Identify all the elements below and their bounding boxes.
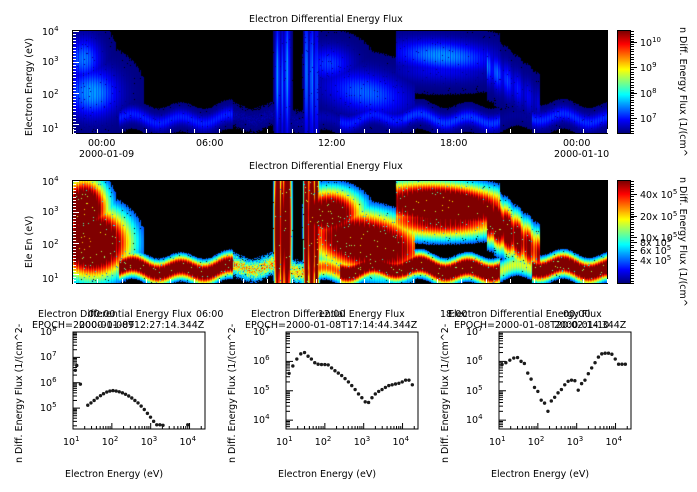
colorbar-tick-label: 40x 105 — [640, 188, 677, 201]
y-minor-tick — [73, 105, 76, 106]
colorbar-minor-tick — [631, 232, 634, 233]
y-minor-tick — [73, 215, 76, 216]
bottom-xtick-label: 104 — [180, 435, 197, 448]
colorbar-major-tick — [631, 118, 637, 119]
y-minor-tick — [73, 255, 76, 256]
y-minor-tick — [73, 37, 76, 38]
mid-spectrogram-canvas — [73, 181, 607, 283]
x-minor-tick — [292, 129, 293, 133]
plot-frame — [499, 332, 631, 429]
colorbar-major-tick — [631, 194, 637, 195]
y-minor-tick — [73, 246, 76, 247]
bottom-xtick-label: 103 — [141, 435, 158, 448]
y-minor-tick — [73, 203, 76, 204]
top-ytick-2: 102 — [42, 88, 59, 101]
top-panel: Electron Differential Energy Flux Electr… — [0, 0, 697, 162]
mid-colorbar-gradient — [618, 181, 630, 283]
colorbar-minor-tick — [631, 235, 634, 236]
x-minor-tick — [437, 279, 438, 283]
top-ytick-1: 101 — [42, 122, 59, 135]
x-minor-tick — [461, 129, 462, 133]
y-minor-tick — [73, 77, 76, 78]
data-points — [74, 364, 190, 427]
colorbar-minor-tick — [631, 283, 634, 284]
top-colorbar-label: n Diff. Energy Flux (1/(cm^ — [677, 27, 688, 157]
bottom-ytick-label: 107 — [253, 325, 270, 338]
bottom-xtick-label: 101 — [489, 435, 506, 448]
colorbar-minor-tick — [631, 247, 634, 248]
y-minor-tick — [73, 184, 76, 185]
x-minor-tick — [364, 129, 365, 133]
y-minor-tick — [73, 127, 76, 128]
y-minor-tick — [73, 74, 76, 75]
colorbar-minor-tick — [631, 224, 634, 225]
y-minor-tick — [73, 31, 79, 32]
x-minor-tick — [583, 129, 584, 133]
colorbar-minor-tick — [631, 77, 634, 78]
y-minor-tick — [73, 102, 76, 103]
colorbar-major-tick — [631, 260, 637, 261]
y-minor-tick — [73, 212, 79, 213]
colorbar-tick-label: 10x 105 — [640, 231, 677, 244]
colorbar-minor-tick — [631, 125, 634, 126]
y-minor-tick — [73, 234, 76, 235]
mid-colorbar-label-wrap: n Diff. Energy Flux (1/(cm^ — [688, 177, 697, 188]
colorbar-minor-tick — [631, 201, 634, 202]
colorbar-minor-tick — [631, 278, 634, 279]
colorbar-minor-tick — [631, 115, 634, 116]
y-minor-tick — [73, 277, 76, 278]
colorbar-minor-tick — [631, 79, 634, 80]
y-minor-tick — [73, 84, 76, 85]
x-minor-tick — [340, 129, 341, 133]
colorbar-major-tick — [631, 237, 637, 238]
mid-ytick-1: 101 — [42, 272, 59, 285]
x-minor-tick — [267, 129, 268, 133]
colorbar-tick-label: 20x 105 — [640, 210, 677, 223]
colorbar-minor-tick — [631, 227, 634, 228]
colorbar-minor-tick — [631, 189, 634, 190]
bottom-xtick-label: 104 — [606, 435, 623, 448]
colorbar-major-tick — [631, 242, 637, 243]
bottom-ytick-label: 106 — [253, 354, 270, 367]
top-panel-title: Electron Differential Energy Flux — [249, 14, 403, 25]
x-minor-tick — [146, 279, 147, 283]
top-spectrogram-plot[interactable] — [72, 30, 608, 134]
bottom-ytick-label: 104 — [253, 413, 270, 426]
x-minor-tick — [194, 279, 195, 283]
mid-panel-ylabel: Ele En (eV) — [24, 216, 35, 268]
top-ytick-3: 103 — [42, 55, 59, 68]
colorbar-minor-tick — [631, 85, 634, 86]
y-minor-tick — [73, 193, 76, 194]
plot-frame — [286, 332, 418, 429]
x-minor-tick — [170, 279, 171, 283]
bottom-ytick-label: 105 — [253, 384, 270, 397]
colorbar-minor-tick — [631, 217, 634, 218]
y-minor-tick — [73, 218, 76, 219]
top-xtick-4: 00:00 — [563, 138, 590, 149]
top-xdate-left: 2000-01-09 — [79, 149, 134, 160]
x-minor-tick — [97, 279, 98, 283]
y-minor-tick — [73, 56, 76, 57]
x-minor-tick — [534, 129, 535, 133]
top-colorbar[interactable] — [617, 30, 631, 134]
colorbar-tick-label: 1010 — [640, 36, 661, 49]
x-minor-tick — [437, 129, 438, 133]
y-minor-tick — [73, 124, 79, 125]
x-minor-tick — [389, 129, 390, 133]
colorbar-minor-tick — [631, 82, 634, 83]
x-minor-tick — [243, 129, 244, 133]
colorbar-minor-tick — [631, 281, 634, 282]
x-minor-tick — [170, 129, 171, 133]
x-minor-tick — [122, 129, 123, 133]
top-spectrogram-canvas — [73, 31, 607, 133]
colorbar-minor-tick — [631, 219, 634, 220]
colorbar-major-tick — [631, 93, 637, 94]
colorbar-minor-tick — [631, 51, 634, 52]
x-minor-tick — [267, 279, 268, 283]
colorbar-minor-tick — [631, 108, 634, 109]
mid-ytick-4: 104 — [42, 175, 59, 188]
colorbar-minor-tick — [631, 128, 634, 129]
y-minor-tick — [73, 59, 76, 60]
colorbar-minor-tick — [631, 72, 634, 73]
y-minor-tick — [73, 81, 76, 82]
y-minor-tick — [73, 111, 76, 112]
y-minor-tick — [73, 40, 76, 41]
x-minor-tick — [583, 279, 584, 283]
colorbar-minor-tick — [631, 263, 634, 264]
colorbar-minor-tick — [631, 209, 634, 210]
y-minor-tick — [73, 133, 76, 134]
x-minor-tick — [292, 279, 293, 283]
colorbar-minor-tick — [631, 255, 634, 256]
colorbar-tick-label: 109 — [640, 61, 657, 74]
colorbar-minor-tick — [631, 105, 634, 106]
colorbar-minor-tick — [631, 133, 634, 134]
colorbar-minor-tick — [631, 31, 634, 32]
y-minor-tick — [73, 206, 76, 207]
colorbar-minor-tick — [631, 186, 634, 187]
top-xtick-1: 06:00 — [196, 138, 223, 149]
y-minor-tick — [73, 209, 76, 210]
colorbar-minor-tick — [631, 44, 634, 45]
x-minor-tick — [243, 279, 244, 283]
y-minor-tick — [73, 65, 76, 66]
colorbar-minor-tick — [631, 181, 634, 182]
x-minor-tick — [486, 279, 487, 283]
mid-ytick-3: 103 — [42, 205, 59, 218]
data-points — [287, 351, 414, 404]
colorbar-tick-label: 108 — [640, 87, 657, 100]
bottom-ytick-label: 105 — [40, 401, 57, 414]
top-xtick-3: 18:00 — [440, 138, 467, 149]
top-xtick-0: 00:00 — [88, 138, 115, 149]
x-minor-tick — [461, 279, 462, 283]
colorbar-minor-tick — [631, 120, 634, 121]
x-minor-tick — [219, 279, 220, 283]
x-minor-tick — [607, 129, 608, 133]
y-minor-tick — [73, 71, 76, 72]
bottom-xtick-label: 101 — [63, 435, 80, 448]
y-minor-tick — [73, 249, 76, 250]
mid-colorbar-label: n Diff. Energy Flux (1/(cm^ — [677, 177, 688, 307]
mid-panel-title: Electron Differential Energy Flux — [249, 161, 403, 172]
plot-frame — [73, 332, 205, 429]
colorbar-minor-tick — [631, 64, 634, 65]
y-minor-tick — [73, 115, 76, 116]
y-minor-tick — [73, 265, 76, 266]
bottom-panels-row: Electron Differential Energy FluxEPOCH=2… — [0, 300, 697, 492]
y-minor-tick — [73, 283, 76, 284]
y-minor-tick — [73, 93, 79, 94]
y-minor-tick — [73, 96, 76, 97]
bottom-xtick-label: 101 — [276, 435, 293, 448]
y-minor-tick — [73, 187, 76, 188]
y-minor-tick — [73, 121, 76, 122]
colorbar-minor-tick — [631, 100, 634, 101]
y-minor-tick — [73, 47, 76, 48]
colorbar-minor-tick — [631, 113, 634, 114]
colorbar-minor-tick — [631, 273, 634, 274]
colorbar-major-tick — [631, 67, 637, 68]
x-minor-tick — [559, 129, 560, 133]
colorbar-minor-tick — [631, 240, 634, 241]
colorbar-minor-tick — [631, 59, 634, 60]
mid-panel: Electron Differential Energy Flux Ele En… — [0, 160, 697, 310]
y-minor-tick — [73, 68, 76, 69]
colorbar-minor-tick — [631, 87, 634, 88]
colorbar-minor-tick — [631, 74, 634, 75]
y-minor-tick — [73, 181, 79, 182]
y-minor-tick — [73, 118, 76, 119]
x-minor-tick — [316, 129, 317, 133]
colorbar-minor-tick — [631, 39, 634, 40]
y-minor-tick — [73, 50, 76, 51]
mid-colorbar[interactable] — [617, 180, 631, 284]
colorbar-minor-tick — [631, 199, 634, 200]
colorbar-minor-tick — [631, 36, 634, 37]
y-minor-tick — [73, 99, 76, 100]
colorbar-minor-tick — [631, 196, 634, 197]
y-minor-tick — [73, 243, 79, 244]
x-minor-tick — [389, 279, 390, 283]
bottom-ytick-label: 105 — [466, 384, 483, 397]
x-minor-tick — [146, 129, 147, 133]
top-colorbar-gradient — [618, 31, 630, 133]
bottom-ytick-label: 108 — [40, 325, 57, 338]
colorbar-tick-label: 107 — [640, 112, 657, 125]
colorbar-minor-tick — [631, 229, 634, 230]
colorbar-minor-tick — [631, 62, 634, 63]
y-minor-tick — [73, 261, 76, 262]
y-minor-tick — [73, 231, 76, 232]
x-minor-tick — [340, 279, 341, 283]
y-minor-tick — [73, 252, 76, 253]
colorbar-minor-tick — [631, 191, 634, 192]
x-minor-tick — [73, 279, 74, 283]
colorbar-minor-tick — [631, 49, 634, 50]
y-minor-tick — [73, 240, 76, 241]
y-minor-tick — [73, 221, 76, 222]
bottom-xtick-label: 102 — [315, 435, 332, 448]
bottom-xtick-label: 102 — [102, 435, 119, 448]
top-ytick-4: 104 — [42, 25, 59, 38]
y-minor-tick — [73, 190, 76, 191]
x-minor-tick — [559, 279, 560, 283]
y-minor-tick — [73, 43, 76, 44]
top-panel-ylabel: Electron Energy (eV) — [24, 38, 35, 136]
colorbar-minor-tick — [631, 69, 634, 70]
y-minor-tick — [73, 200, 76, 201]
y-minor-tick — [73, 271, 76, 272]
colorbar-minor-tick — [631, 245, 634, 246]
x-minor-tick — [316, 279, 317, 283]
x-minor-tick — [413, 129, 414, 133]
y-minor-tick — [73, 62, 79, 63]
colorbar-minor-tick — [631, 275, 634, 276]
y-minor-tick — [73, 237, 76, 238]
x-minor-tick — [122, 279, 123, 283]
y-minor-tick — [73, 53, 76, 54]
colorbar-minor-tick — [631, 57, 634, 58]
bottom-ytick-label: 107 — [466, 325, 483, 338]
colorbar-minor-tick — [631, 268, 634, 269]
colorbar-minor-tick — [631, 212, 634, 213]
y-minor-tick — [73, 87, 76, 88]
bottom-ytick-label: 107 — [40, 350, 57, 363]
bottom-panel-3: Electron Differential Energy FluxEPOCH=2… — [426, 300, 697, 492]
y-minor-tick — [73, 268, 76, 269]
x-minor-tick — [607, 279, 608, 283]
colorbar-minor-tick — [631, 34, 634, 35]
x-minor-tick — [413, 279, 414, 283]
data-points — [500, 351, 627, 413]
colorbar-minor-tick — [631, 222, 634, 223]
bottom-xtick-label: 104 — [393, 435, 410, 448]
y-minor-tick — [73, 90, 76, 91]
x-minor-tick — [486, 129, 487, 133]
colorbar-minor-tick — [631, 110, 634, 111]
colorbar-minor-tick — [631, 102, 634, 103]
y-minor-tick — [73, 224, 76, 225]
bottom-xtick-label: 102 — [528, 435, 545, 448]
colorbar-minor-tick — [631, 265, 634, 266]
bottom-xtick-label: 103 — [354, 435, 371, 448]
colorbar-minor-tick — [631, 204, 634, 205]
x-minor-tick — [73, 129, 74, 133]
y-minor-tick — [73, 227, 76, 228]
colorbar-minor-tick — [631, 184, 634, 185]
colorbar-minor-tick — [631, 97, 634, 98]
bottom-xtick-label: 103 — [567, 435, 584, 448]
colorbar-minor-tick — [631, 54, 634, 55]
colorbar-minor-tick — [631, 252, 634, 253]
colorbar-major-tick — [631, 42, 637, 43]
x-minor-tick — [364, 279, 365, 283]
colorbar-major-tick — [631, 216, 637, 217]
y-minor-tick — [73, 34, 76, 35]
mid-ytick-2: 102 — [42, 238, 59, 251]
colorbar-minor-tick — [631, 258, 634, 259]
x-minor-tick — [194, 129, 195, 133]
mid-spectrogram-plot[interactable] — [72, 180, 608, 284]
colorbar-minor-tick — [631, 46, 634, 47]
bottom-ytick-label: 106 — [466, 354, 483, 367]
colorbar-minor-tick — [631, 95, 634, 96]
colorbar-major-tick — [631, 250, 637, 251]
y-minor-tick — [73, 197, 76, 198]
top-xtick-2: 12:00 — [318, 138, 345, 149]
top-colorbar-label-wrap: n Diff. Energy Flux (1/(cm^ — [688, 27, 697, 38]
colorbar-minor-tick — [631, 270, 634, 271]
x-minor-tick — [510, 129, 511, 133]
top-xdate-right: 2000-01-10 — [554, 149, 609, 160]
x-minor-tick — [510, 279, 511, 283]
y-minor-tick — [73, 108, 76, 109]
x-minor-tick — [534, 279, 535, 283]
colorbar-minor-tick — [631, 131, 634, 132]
y-minor-tick — [73, 258, 76, 259]
colorbar-minor-tick — [631, 123, 634, 124]
colorbar-minor-tick — [631, 90, 634, 91]
x-minor-tick — [97, 129, 98, 133]
bottom-ytick-label: 104 — [466, 413, 483, 426]
x-minor-tick — [219, 129, 220, 133]
colorbar-minor-tick — [631, 207, 634, 208]
bottom-ytick-label: 106 — [40, 376, 57, 389]
y-minor-tick — [73, 274, 79, 275]
